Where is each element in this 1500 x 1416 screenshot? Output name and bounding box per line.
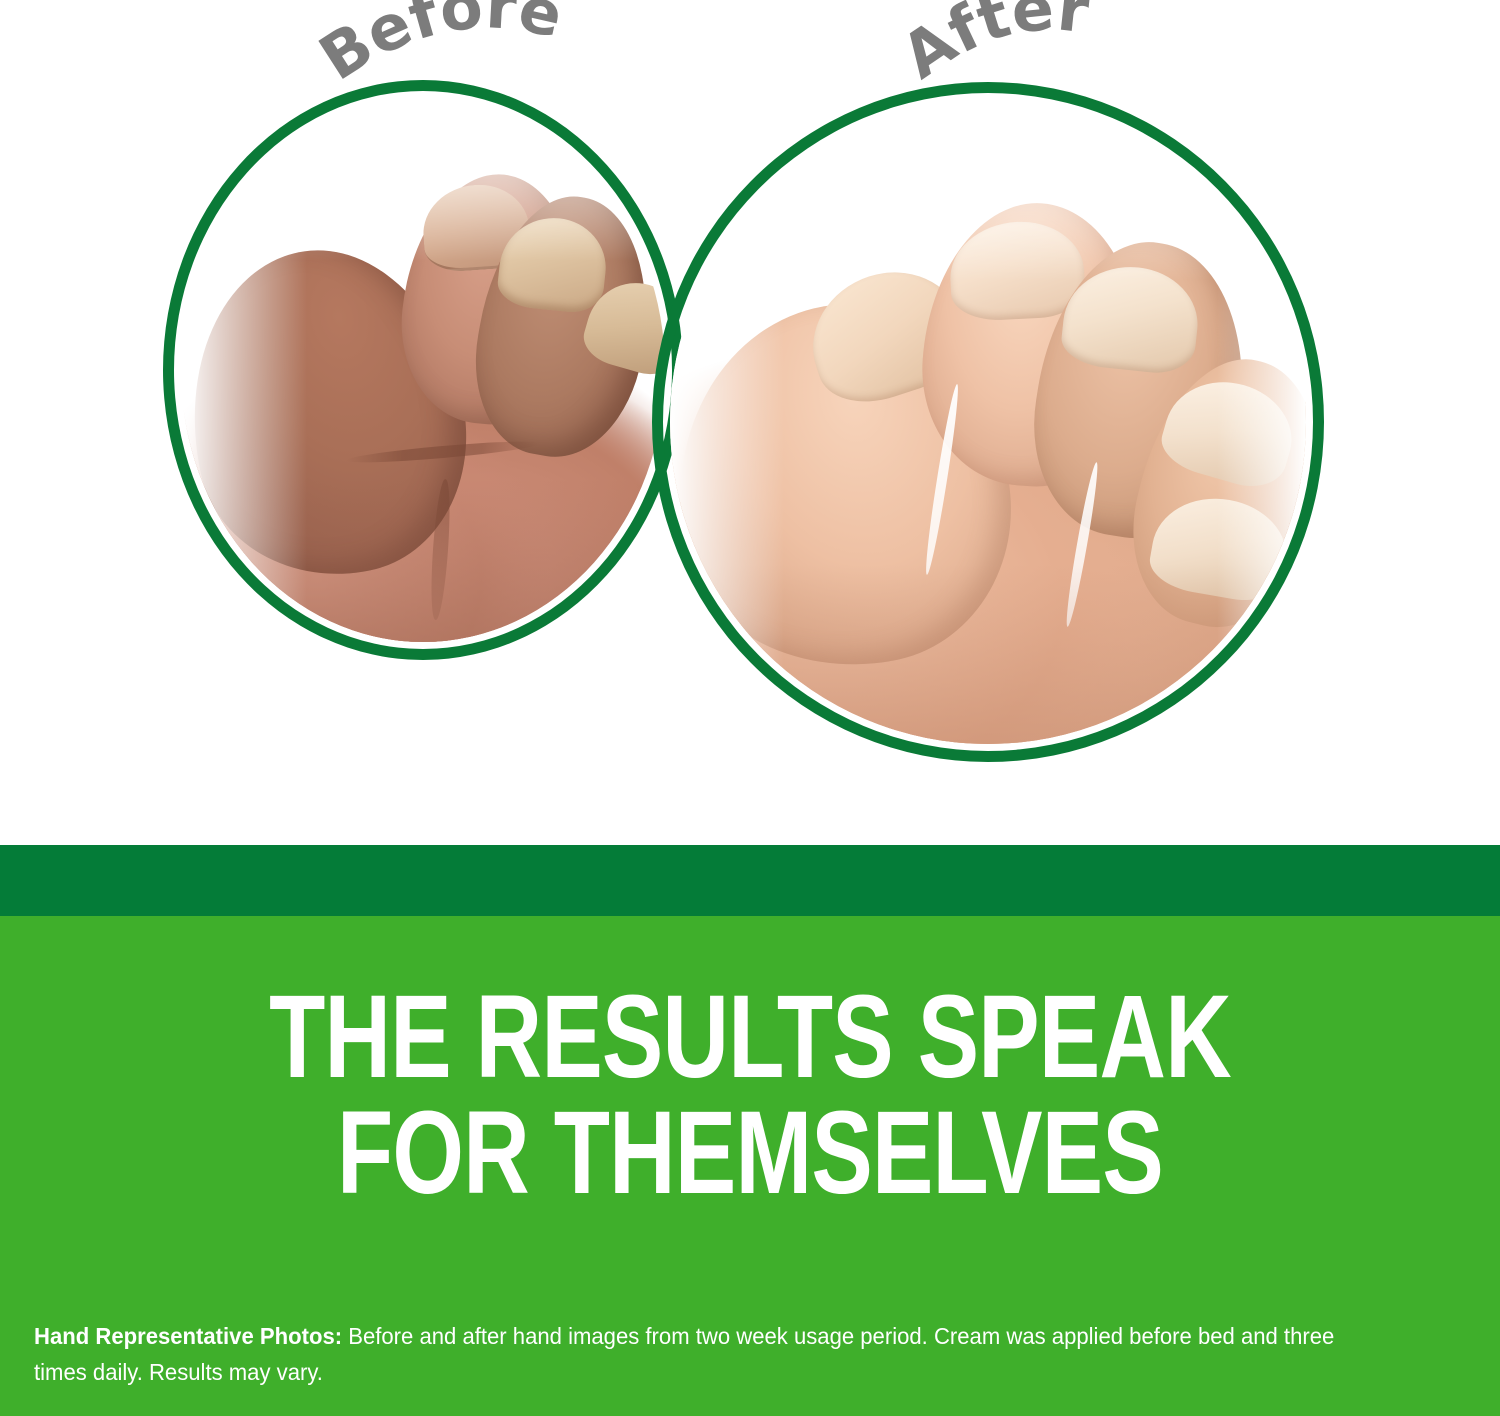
headline: THE RESULTS SPEAK FOR THEMSELVES bbox=[165, 980, 1335, 1211]
after-label: After bbox=[890, 0, 1190, 92]
disclaimer: Hand Representative Photos: Before and a… bbox=[34, 1318, 1369, 1391]
headline-line-2: FOR THEMSELVES bbox=[165, 1096, 1335, 1212]
dark-green-divider-band bbox=[0, 845, 1500, 916]
headline-line-1: THE RESULTS SPEAK bbox=[165, 980, 1335, 1096]
svg-text:After: After bbox=[888, 0, 1092, 93]
before-label: Before bbox=[300, 0, 620, 90]
before-circle-ring bbox=[163, 80, 683, 660]
before-after-photo-area: Before After bbox=[0, 0, 1500, 845]
after-label-text: After bbox=[888, 0, 1092, 93]
svg-text:Before: Before bbox=[307, 0, 569, 95]
before-label-text: Before bbox=[307, 0, 569, 95]
disclaimer-lead: Hand Representative Photos: bbox=[34, 1323, 342, 1349]
after-circle-ring bbox=[652, 82, 1324, 762]
promo-image-root: Before After THE RESULTS SPEAK FOR THEMS… bbox=[0, 0, 1500, 1416]
